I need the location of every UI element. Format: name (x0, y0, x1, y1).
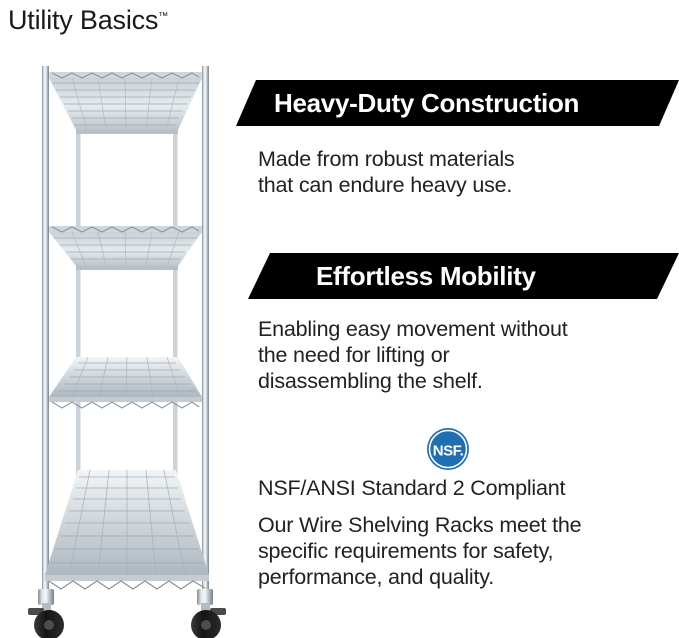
caster-left (28, 589, 64, 638)
product-image-wire-shelving-rack (16, 52, 240, 638)
brand-logo: Utility Basics™ (8, 2, 168, 35)
svg-text:NSF.: NSF. (433, 443, 464, 460)
feature-banner-effortless-mobility: Effortless Mobility (248, 253, 679, 299)
shelf-1 (49, 72, 202, 134)
shelf-3 (49, 357, 202, 408)
nsf-compliance-body: Our Wire Shelving Racks meet the specifi… (258, 512, 581, 590)
feature-body-effortless-mobility: Enabling easy movement without the need … (258, 316, 568, 394)
feature-banner-heavy-duty-construction: Heavy-Duty Construction (236, 80, 679, 126)
nsf-compliance-heading: NSF/ANSI Standard 2 Compliant (258, 475, 565, 501)
feature-title: Effortless Mobility (316, 261, 536, 291)
feature-list: Heavy-Duty Construction Made from robust… (236, 80, 679, 638)
feature-title: Heavy-Duty Construction (274, 88, 579, 118)
product-feature-infographic: Utility Basics™ (0, 0, 679, 638)
caster-right (191, 589, 226, 638)
shelf-4 (45, 470, 209, 589)
nsf-certification-badge-icon: NSF. (426, 427, 470, 471)
trademark-symbol: ™ (158, 11, 168, 22)
brand-name: Utility Basics (8, 5, 158, 35)
feature-body-heavy-duty-construction: Made from robust materials that can endu… (258, 146, 514, 198)
shelf-2 (49, 226, 202, 270)
